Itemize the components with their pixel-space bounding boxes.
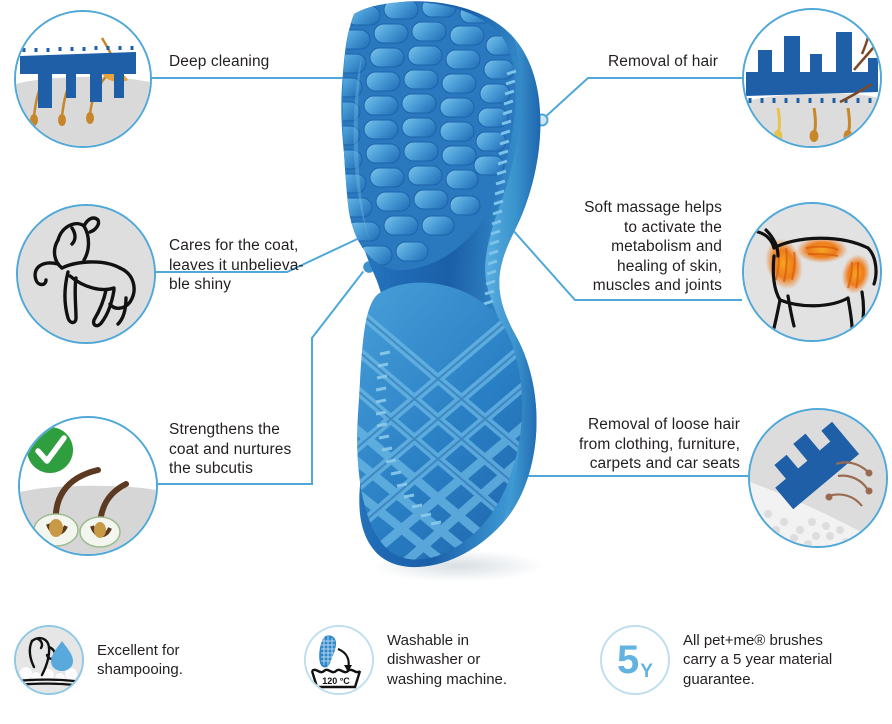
footer-text-guarantee: All pet+me® brushes carry a 5 year mater… bbox=[683, 631, 832, 690]
footer-text-washable: Washable in dishwasher or washing machin… bbox=[387, 631, 507, 690]
footer-item-guarantee: 5 Y All pet+me® brushes carry a 5 year m… bbox=[600, 625, 832, 695]
brush-on-skin-icon bbox=[16, 12, 150, 146]
dishwasher-basin-icon: 120 °C bbox=[304, 625, 374, 695]
feature-bubble-strengthens-coat bbox=[18, 416, 158, 556]
product-brush-image bbox=[318, 0, 586, 590]
feature-label-soft-massage: Soft massage helps to activate the metab… bbox=[548, 198, 722, 296]
badge-content: 5 Y bbox=[602, 627, 668, 693]
badge-unit: Y bbox=[640, 662, 653, 681]
check-badge-icon bbox=[27, 427, 73, 473]
footer-item-washable: 120 °C Washable in dishwasher or washing… bbox=[304, 625, 507, 695]
infographic-stage: Deep cleaning bbox=[0, 0, 892, 724]
hair-follicle-check-icon bbox=[20, 418, 156, 554]
dog-outline-icon bbox=[18, 206, 154, 342]
footer-text-shampooing: Excellent for shampooing. bbox=[97, 641, 183, 680]
feature-label-removal-loose-hair: Removal of loose hair from clothing, fur… bbox=[540, 415, 740, 474]
feature-label-cares-for-coat: Cares for the coat, leaves it unbelieva-… bbox=[169, 236, 339, 295]
badge-number: 5 bbox=[617, 640, 639, 680]
feature-bubble-deep-cleaning bbox=[14, 10, 152, 148]
skin-layer bbox=[16, 77, 150, 146]
feature-label-strengthens-coat: Strengthens the coat and nurtures the su… bbox=[169, 420, 349, 479]
feature-label-deep-cleaning: Deep cleaning bbox=[169, 52, 359, 72]
brush-teeth-hair-icon bbox=[744, 10, 880, 146]
feature-bubble-cares-for-coat bbox=[16, 204, 156, 344]
footer-item-shampooing: Excellent for shampooing. bbox=[14, 625, 183, 695]
feature-bubble-soft-massage bbox=[742, 202, 882, 342]
brush-nub-field bbox=[318, 0, 586, 294]
feature-label-removal-of-hair: Removal of hair bbox=[608, 52, 808, 72]
feature-bubble-removal-loose-hair bbox=[748, 408, 888, 548]
temperature-label: 120 °C bbox=[322, 676, 350, 686]
dog-water-drop-icon bbox=[14, 625, 84, 695]
brush-on-fabric-icon bbox=[750, 410, 886, 546]
dog-heat-zones-icon bbox=[744, 204, 880, 340]
five-year-badge-icon: 5 Y bbox=[600, 625, 670, 695]
feature-bubble-removal-of-hair bbox=[742, 8, 882, 148]
